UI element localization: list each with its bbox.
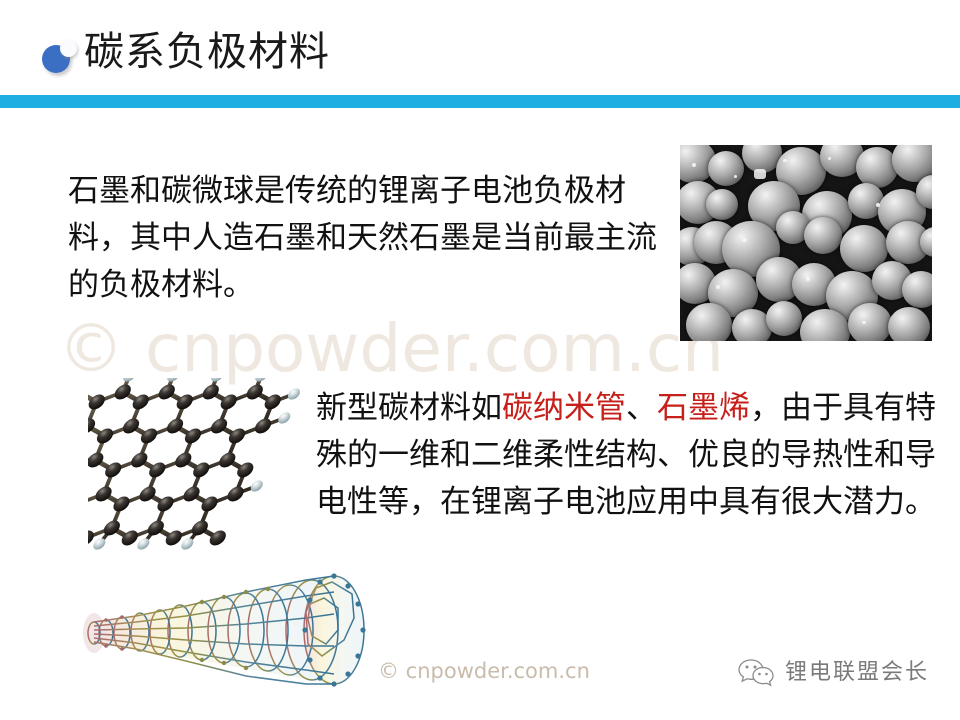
carbon-nanotube-image (76, 560, 368, 700)
wechat-account-mark: 锂电联盟会长 (738, 658, 929, 688)
highlight-carbon-nanotube: 碳纳米管 (502, 390, 626, 426)
bullet-circle-white (60, 40, 77, 57)
page-title: 碳系负极材料 (84, 26, 330, 78)
paragraph-2-text-part-2: 、 (626, 390, 657, 426)
watermark-small: © cnpowder.com.cn (378, 659, 590, 683)
header-accent-bar (0, 95, 960, 108)
slide-canvas: 碳系负极材料 © cnpowder.com.cn 石墨和碳微球是传统的锂离子电池… (0, 0, 960, 720)
watermark-large: © cnpowder.com.cn (58, 316, 724, 382)
slide-header: 碳系负极材料 (0, 0, 960, 108)
wechat-icon (738, 658, 776, 688)
graphene-lattice-image (88, 378, 314, 568)
carbon-microspheres-sem-image (680, 145, 932, 341)
body-paragraph-2: 新型碳材料如碳纳米管、石墨烯，由于具有特殊的一维和二维柔性结构、优良的导热性和导… (316, 385, 936, 526)
wechat-account-label: 锂电联盟会长 (785, 659, 929, 687)
two-circles-bullet-icon (42, 40, 82, 74)
paragraph-2-text-part-1: 新型碳材料如 (316, 390, 502, 426)
highlight-graphene: 石墨烯 (657, 390, 750, 426)
body-paragraph-1: 石墨和碳微球是传统的锂离子电池负极材料，其中人造石墨和天然石墨是当前最主流的负极… (68, 168, 668, 309)
